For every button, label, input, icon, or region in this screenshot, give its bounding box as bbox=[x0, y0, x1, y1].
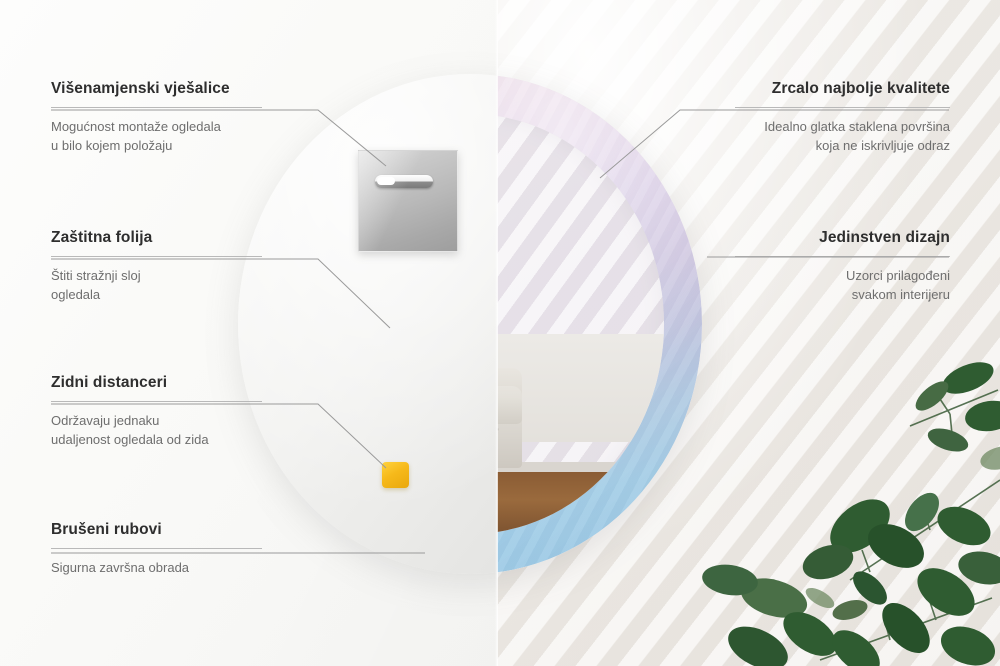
mirror-product bbox=[238, 74, 702, 574]
callout-description: Održavaju jednaku udaljenost ogledala od… bbox=[51, 412, 262, 450]
mirror-glass-reflection bbox=[497, 114, 664, 534]
callout-rule bbox=[51, 548, 262, 549]
callout-title: Zidni distanceri bbox=[51, 374, 262, 392]
callout-rule bbox=[735, 256, 950, 257]
reflected-living-room bbox=[497, 334, 664, 534]
reflected-cushion bbox=[497, 398, 522, 424]
callout-title: Višenamjenski vješalice bbox=[51, 80, 262, 98]
callout-description: Sigurna završna obrada bbox=[51, 559, 262, 578]
yellow-spacer-icon bbox=[382, 462, 409, 488]
callout-description: Idealno glatka staklena površina koja ne… bbox=[735, 118, 950, 156]
callout-description: Mogućnost montaže ogledala u bilo kojem … bbox=[51, 118, 262, 156]
callout-protective-film: Zaštitna folija Štiti stražnji sloj ogle… bbox=[51, 229, 262, 305]
mirror-front-photo bbox=[497, 74, 702, 574]
callout-wall-spacers: Zidni distanceri Održavaju jednaku udalj… bbox=[51, 374, 262, 450]
callout-description: Uzorci prilagođeni svakom interijeru bbox=[735, 267, 950, 305]
panel-divider bbox=[495, 0, 498, 666]
callout-multi-purpose-hangers: Višenamjenski vješalice Mogućnost montaž… bbox=[51, 80, 262, 156]
hanger-plate-icon bbox=[358, 150, 458, 252]
callout-title: Brušeni rubovi bbox=[51, 521, 262, 539]
callout-rule bbox=[51, 401, 262, 402]
callout-unique-design: Jedinstven dizajn Uzorci prilagođeni sva… bbox=[735, 229, 950, 305]
reflected-room-wall bbox=[497, 334, 664, 442]
infographic-canvas: Višenamjenski vješalice Mogućnost montaž… bbox=[0, 0, 1000, 666]
callout-title: Jedinstven dizajn bbox=[735, 229, 950, 247]
callout-polished-edges: Brušeni rubovi Sigurna završna obrada bbox=[51, 521, 262, 578]
callout-description: Štiti stražnji sloj ogledala bbox=[51, 267, 262, 305]
plant-foliage bbox=[700, 330, 1000, 666]
callout-best-quality-mirror: Zrcalo najbolje kvalitete Idealno glatka… bbox=[735, 80, 950, 156]
reflected-wood-floor bbox=[497, 472, 664, 534]
hanger-keyhole-slot bbox=[375, 175, 433, 188]
callout-rule bbox=[51, 107, 262, 108]
callout-title: Zrcalo najbolje kvalitete bbox=[735, 80, 950, 98]
mirror-front-clip bbox=[497, 74, 702, 574]
callout-title: Zaštitna folija bbox=[51, 229, 262, 247]
callout-rule bbox=[51, 256, 262, 257]
callout-rule bbox=[735, 107, 950, 108]
